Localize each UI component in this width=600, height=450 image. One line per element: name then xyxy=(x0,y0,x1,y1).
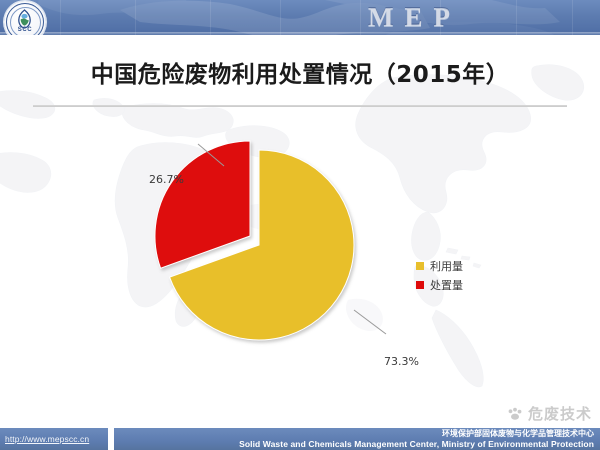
footer-url-link[interactable]: http://www.mepscc.cn xyxy=(5,434,89,444)
pie-chart xyxy=(140,120,430,370)
paw-icon xyxy=(506,405,524,423)
scc-seal-logo: SCC xyxy=(4,1,46,35)
chart-area: 26.7% 73.3% xyxy=(0,35,600,420)
pie-slice-disposal[interactable] xyxy=(155,141,250,268)
seal-label: SCC xyxy=(4,27,46,33)
data-label-utilization: 73.3% xyxy=(384,355,419,368)
globe-icon xyxy=(0,0,600,35)
data-label-disposal: 26.7% xyxy=(149,173,184,186)
header-banner: MEP SCC xyxy=(0,0,600,35)
footer-bar: http://www.mepscc.cn 环境保护部固体废物与化学品管理技术中心… xyxy=(0,428,600,450)
watermark: 危废技术 xyxy=(506,403,592,424)
leader-line-yellow xyxy=(354,310,386,334)
mep-wordmark: MEP xyxy=(368,0,461,35)
watermark-text: 危废技术 xyxy=(528,403,592,424)
footer-org-name-en: Solid Waste and Chemicals Management Cen… xyxy=(239,439,594,449)
seal-emblem-icon xyxy=(15,9,34,29)
footer-org-name-cn: 环境保护部固体废物与化学品管理技术中心 xyxy=(442,428,594,439)
pie-slice-disposal-group[interactable] xyxy=(155,141,250,268)
slide-canvas: MEP SCC xyxy=(0,0,600,450)
